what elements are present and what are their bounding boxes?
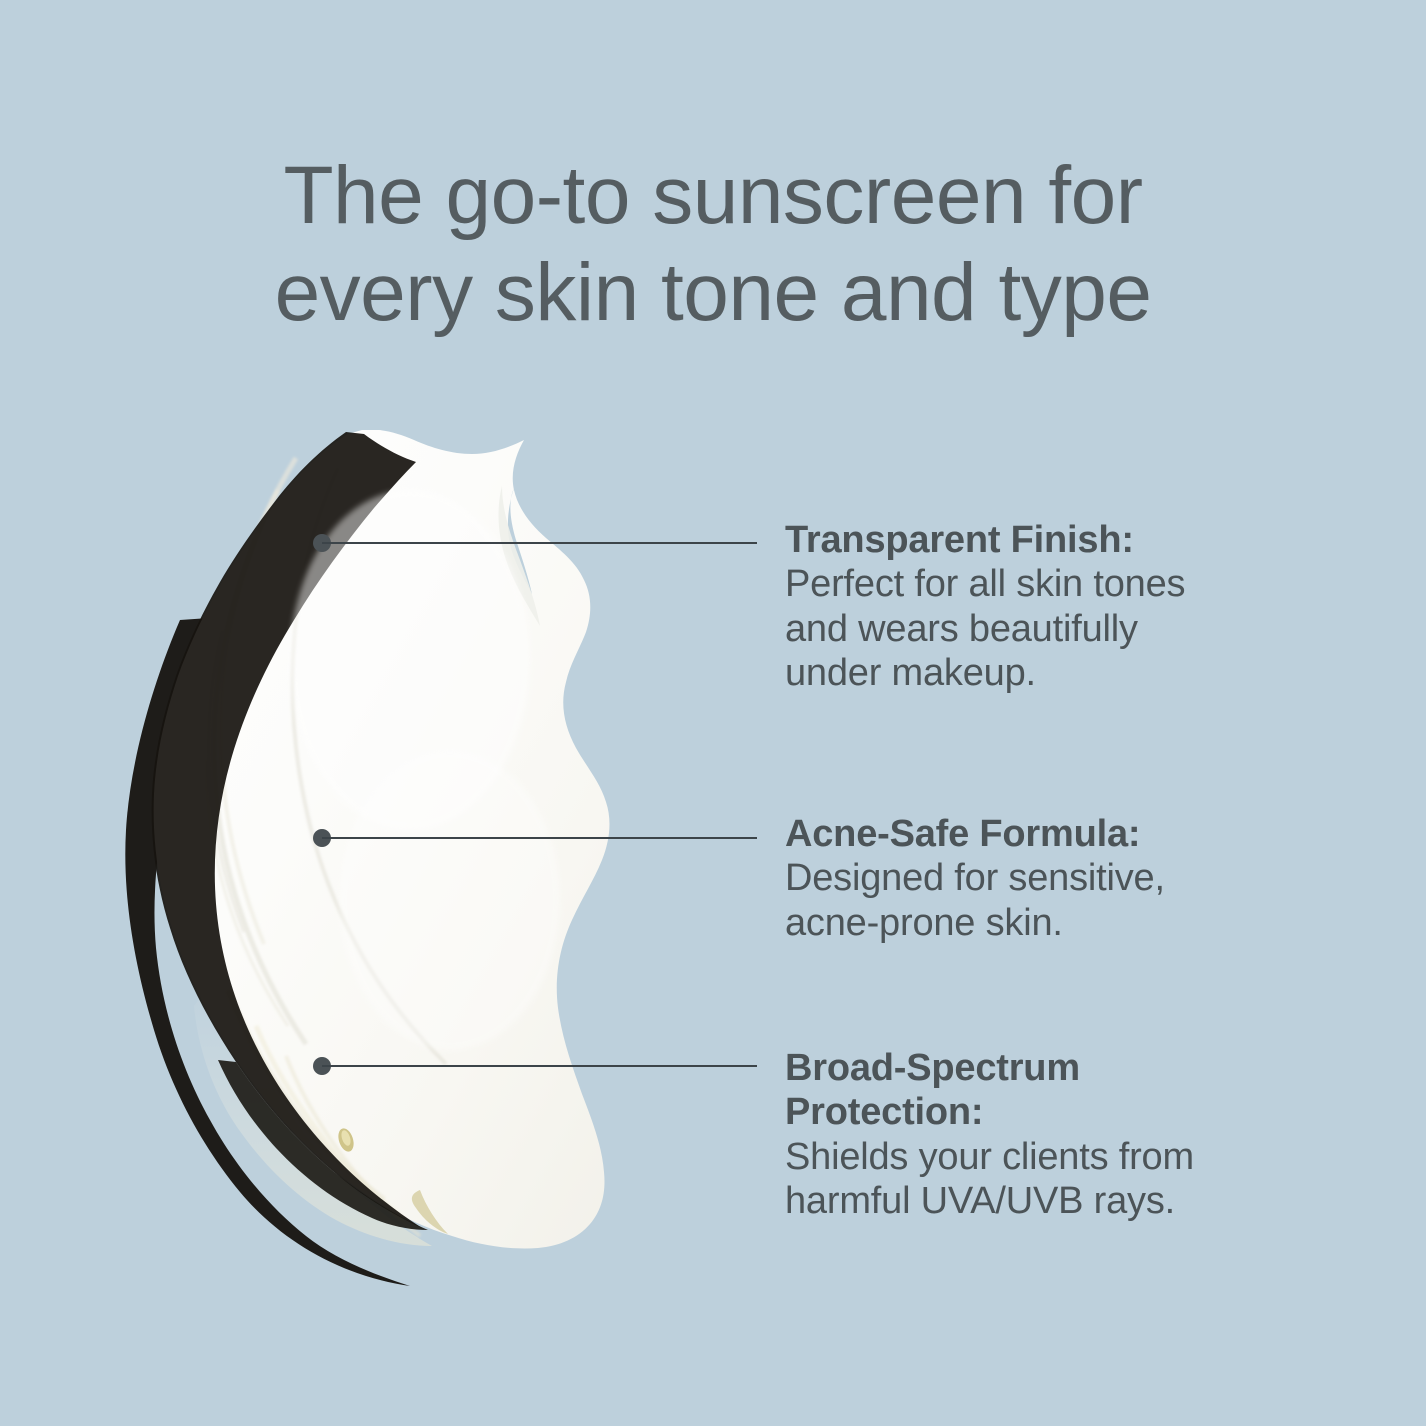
callout-line-1	[322, 542, 757, 544]
feature-block-acne-safe-formula: Acne-Safe Formula: Designed for sensitiv…	[785, 812, 1330, 945]
feature-block-broad-spectrum-protection: Broad-Spectrum Protection: Shields your …	[785, 1046, 1330, 1224]
callout-line-3	[322, 1065, 757, 1067]
headline-line-1: The go-to sunscreen for	[283, 150, 1142, 241]
feature-desc-line-2: harmful UVA/UVB rays.	[785, 1179, 1330, 1223]
sunscreen-cream-swatch-image	[110, 430, 710, 1290]
feature-title-1: Transparent Finish:	[785, 518, 1330, 562]
feature-desc-line-1: Designed for sensitive,	[785, 856, 1330, 900]
feature-desc-line-2: acne-prone skin.	[785, 901, 1330, 945]
feature-desc-line-1: Shields your clients from	[785, 1135, 1330, 1179]
feature-desc-line-1: Perfect for all skin tones	[785, 562, 1330, 606]
feature-desc-line-2: and wears beautifully	[785, 607, 1330, 651]
headline-line-2: every skin tone and type	[275, 247, 1152, 338]
promo-graphic: The go-to sunscreen forevery skin tone a…	[0, 0, 1426, 1426]
feature-title-3a: Broad-Spectrum	[785, 1046, 1330, 1090]
feature-block-transparent-finish: Transparent Finish: Perfect for all skin…	[785, 518, 1330, 696]
feature-desc-line-3: under makeup.	[785, 651, 1330, 695]
feature-title-3b: Protection:	[785, 1090, 1330, 1134]
page-title: The go-to sunscreen forevery skin tone a…	[0, 148, 1426, 342]
callout-line-2	[322, 837, 757, 839]
feature-title-2: Acne-Safe Formula:	[785, 812, 1330, 856]
